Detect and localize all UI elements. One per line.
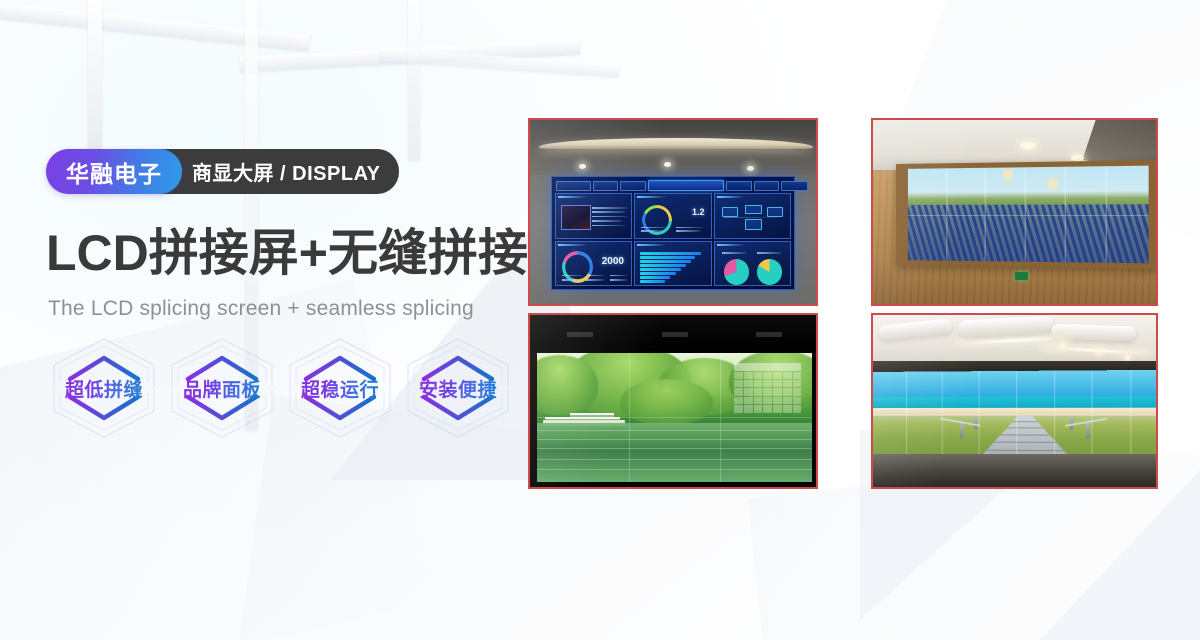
- category-badge: 商显大屏 / DISPLAY: [158, 149, 399, 194]
- badge-row: 华融电子 商显大屏 / DISPLAY: [46, 149, 399, 194]
- scene-beach-boardwalk-wall: [873, 315, 1156, 487]
- gallery-photo-bottom-left: [528, 313, 818, 489]
- feature-item-1: 品牌面板: [166, 335, 278, 441]
- feature-label: 品牌面板: [183, 375, 261, 402]
- gallery-photo-top-left: 1.2 2000: [528, 118, 818, 306]
- feature-item-0: 超低拼缝: [48, 335, 160, 441]
- product-banner: 华融电子 商显大屏 / DISPLAY LCD拼接屏+无缝拼接 The LCD …: [0, 0, 1200, 640]
- feature-label: 安装便捷: [419, 375, 497, 402]
- feature-label: 超稳运行: [301, 375, 379, 402]
- scene-solar-farm-video-wall: [873, 120, 1156, 304]
- gallery-photo-bottom-right: [871, 313, 1158, 489]
- feature-list: 超低拼缝 品牌面板: [48, 335, 514, 441]
- calendar-overlay: [732, 361, 803, 415]
- feature-label: 超低拼缝: [65, 375, 143, 402]
- gallery-photo-top-right: [871, 118, 1158, 306]
- page-subtitle: The LCD splicing screen + seamless splic…: [48, 297, 474, 321]
- page-title: LCD拼接屏+无缝拼接: [46, 228, 528, 278]
- background-triangle-3: [1040, 470, 1200, 640]
- scene-garden-lake-screen: [530, 315, 816, 487]
- feature-item-3: 安装便捷: [402, 335, 514, 441]
- scene-control-room-dashboard: 1.2 2000: [530, 120, 816, 304]
- brand-badge: 华融电子: [46, 149, 182, 194]
- feature-item-2: 超稳运行: [284, 335, 396, 441]
- banner-text-column: 华融电子 商显大屏 / DISPLAY LCD拼接屏+无缝拼接 The LCD …: [46, 0, 526, 640]
